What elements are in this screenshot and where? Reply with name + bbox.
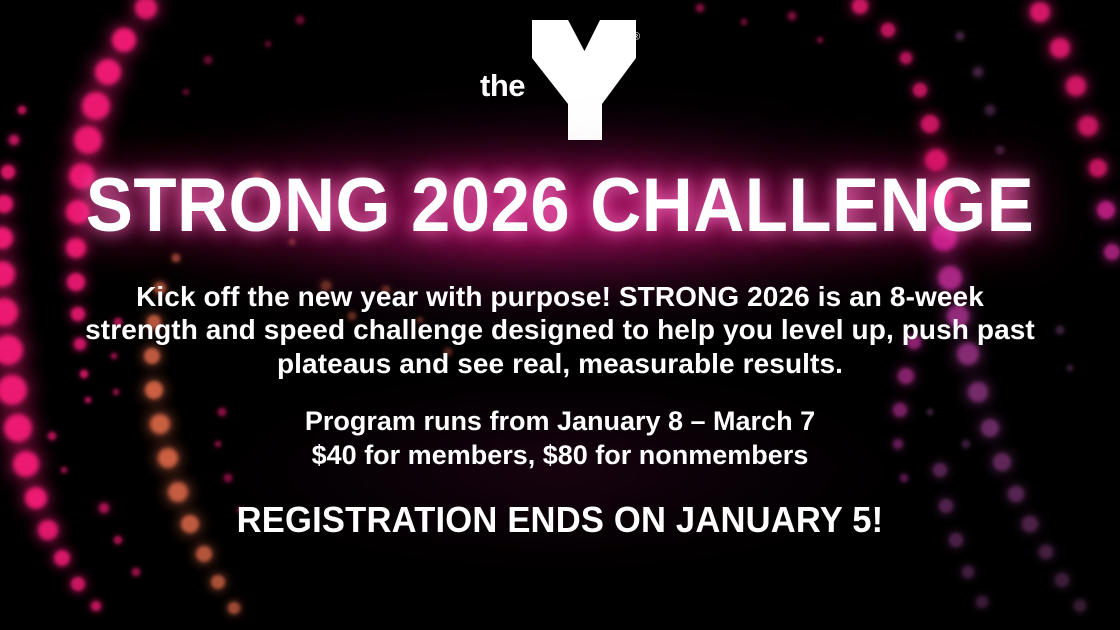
- program-dates: Program runs from January 8 – March 7: [110, 404, 1010, 438]
- program-details: Program runs from January 8 – March 7 $4…: [110, 404, 1010, 472]
- registration-deadline-callout: REGISTRATION ENDS ON JANUARY 5!: [22, 502, 1097, 538]
- body-description: Kick off the new year with purpose! STRO…: [76, 280, 1044, 380]
- program-pricing: $40 for members, $80 for nonmembers: [110, 438, 1010, 472]
- promo-poster: the YMCA ® STRONG 2026 CHALLENGE Kick of…: [0, 0, 1120, 630]
- page-title: STRONG 2026 CHALLENGE: [39, 168, 1081, 244]
- poster-content: STRONG 2026 CHALLENGE Kick off the new y…: [0, 0, 1120, 630]
